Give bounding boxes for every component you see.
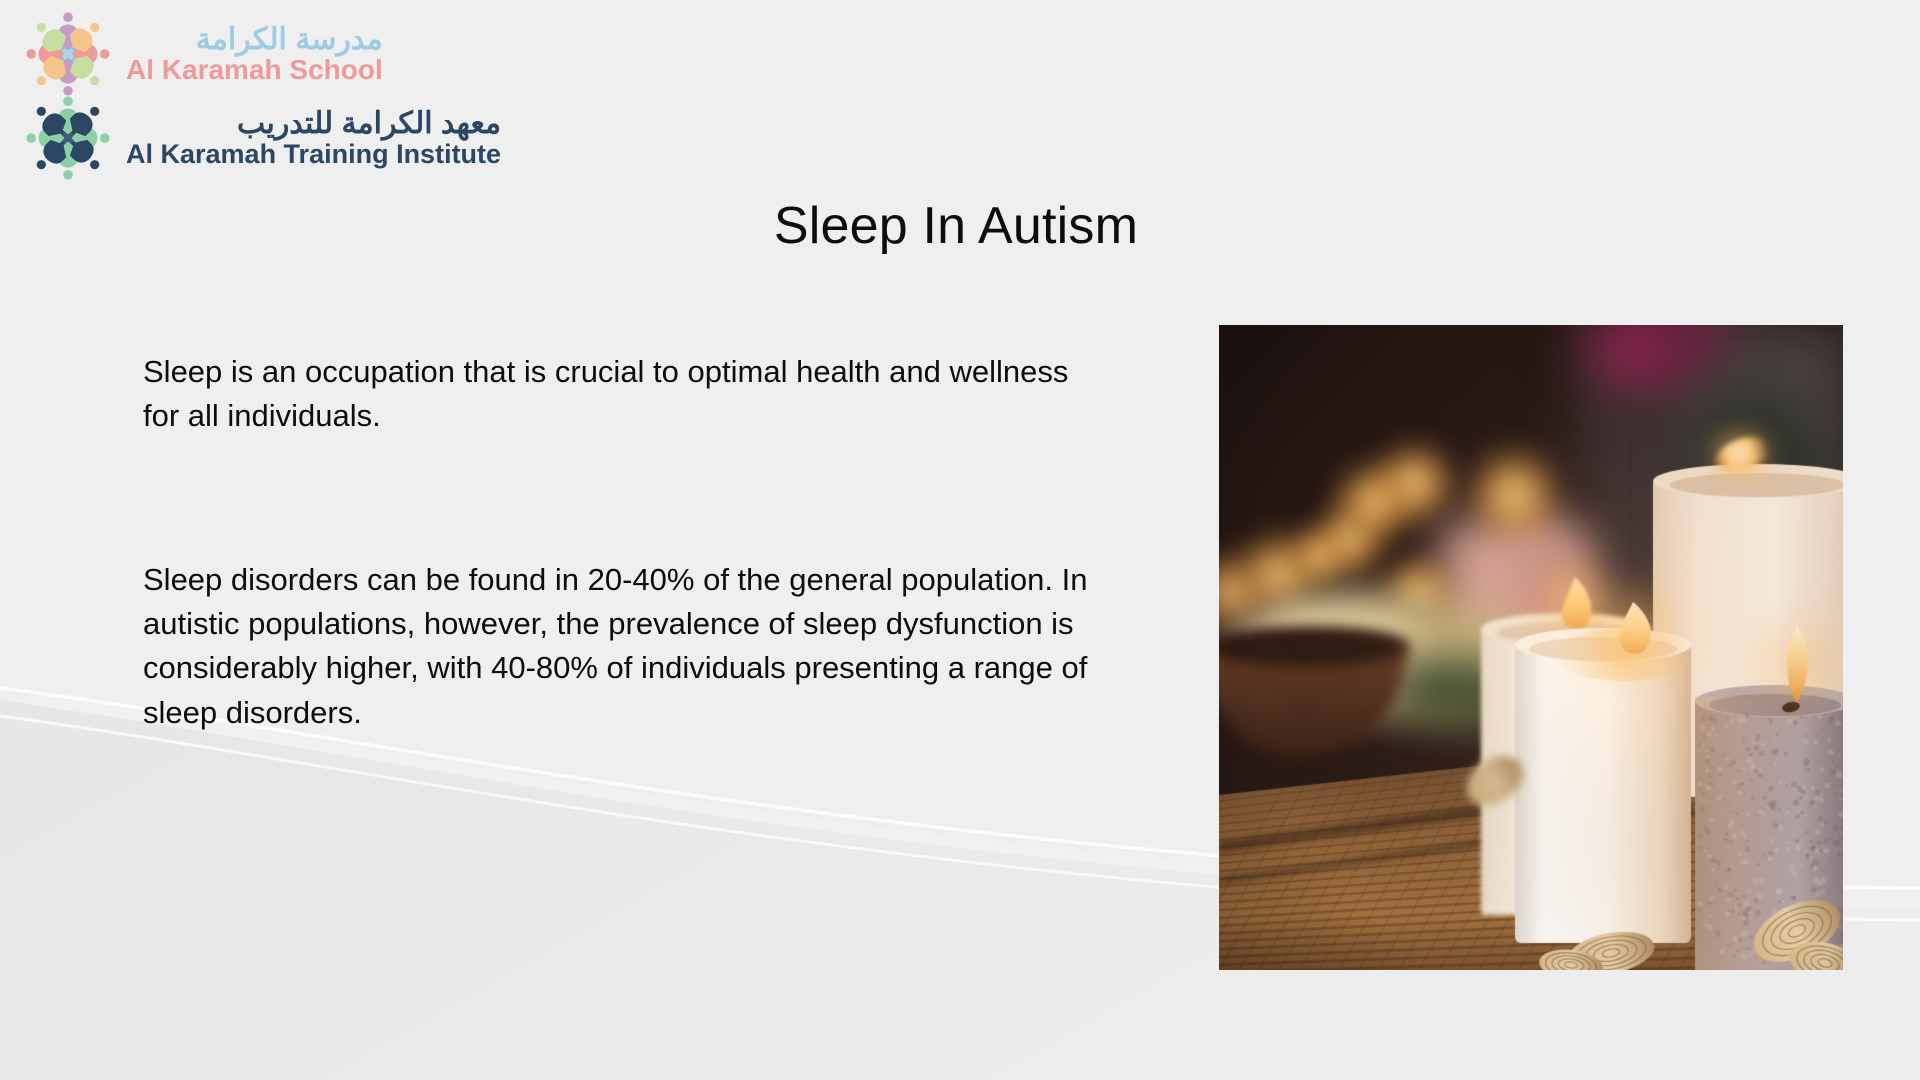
logo-school-english-text: Al Karamah School: [126, 55, 383, 84]
logo-institute-arabic-text: معهد الكرامة للتدريب: [126, 108, 501, 140]
logo-school-arabic-text: مدرسة الكرامة: [126, 24, 383, 56]
lit-candles-photo-canvas: [1219, 325, 1843, 970]
body-paragraph: Sleep disorders can be found in 20-40% o…: [143, 558, 1093, 735]
body-paragraph: Sleep is an occupation that is crucial t…: [143, 350, 1093, 439]
logo-institute-english-text: Al Karamah Training Institute: [126, 140, 501, 168]
page-title: Sleep In Autism: [0, 196, 1920, 256]
lit-candles-photo: [1219, 325, 1843, 970]
eight-point-star-rosette-icon: [22, 8, 114, 100]
page-title-text: Sleep In Autism: [774, 196, 1138, 256]
organization-logo-block: مدرسة الكرامة Al Karamah School: [22, 8, 642, 183]
eight-point-star-rosette-icon: [22, 92, 114, 184]
presentation-slide: مدرسة الكرامة Al Karamah School: [0, 0, 1920, 1080]
body-text-column: Sleep is an occupation that is crucial t…: [143, 350, 1093, 735]
